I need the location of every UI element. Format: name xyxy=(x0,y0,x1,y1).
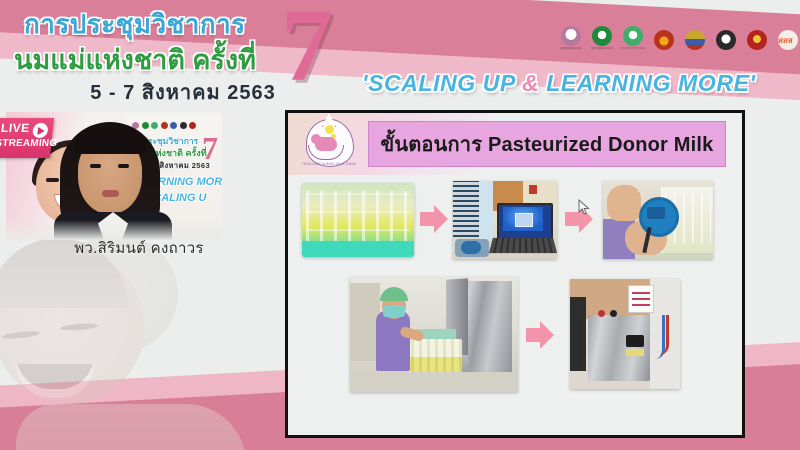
arrow-head xyxy=(540,321,554,349)
photo1-floor xyxy=(302,241,414,257)
logo-caption: มูลนิธิศูนย์นมแม่ xyxy=(560,47,581,50)
milk-level xyxy=(406,357,462,373)
wall-sign xyxy=(628,285,654,313)
sign-line-1 xyxy=(632,292,650,294)
surgical-cap xyxy=(380,287,408,301)
photo-nurse-loading-pasteurizer xyxy=(350,277,518,392)
conference-edition-number: 7 xyxy=(281,0,333,98)
streaming-label: STREAMING xyxy=(0,138,58,149)
royal-patronage-icon xyxy=(561,26,581,46)
window-blinds xyxy=(453,181,479,237)
screen-window xyxy=(515,213,533,227)
logo-caption: THAILAND HUMAN MILK BANK xyxy=(298,162,360,166)
logo-caption: มูลนิธิศูนย์นมแม่ xyxy=(591,47,612,50)
milk-droplet-large xyxy=(325,125,334,134)
nursing-council-logo xyxy=(715,24,737,50)
red-hose xyxy=(656,315,669,355)
slide-title: ขั้นตอนการ Pasteurized Donor Milk xyxy=(380,128,713,160)
pasteurizer-unit xyxy=(588,315,650,381)
human-milk-bank-logo: THAILAND HUMAN MILK BANK xyxy=(300,117,358,173)
poster-logo-4 xyxy=(161,122,168,129)
play-icon xyxy=(32,123,49,138)
photo4-floor xyxy=(350,372,518,392)
computer-mouse xyxy=(461,241,481,254)
health-ministry-icon xyxy=(623,26,643,46)
speaker-name: พว.สิริมนต์ คงถาวร xyxy=(24,236,254,260)
poster-logo-6 xyxy=(180,122,187,129)
royal-patronage-logo: มูลนิธิศูนย์นมแม่ xyxy=(560,24,582,50)
cloth xyxy=(479,181,493,239)
speaker-eye-right xyxy=(118,164,129,168)
nursing-council-icon xyxy=(716,30,736,50)
ministry-of-public-health-logo: กระทรวงสาธารณสุข xyxy=(622,24,644,50)
poster-logo-strip xyxy=(132,122,196,129)
thai-breastfeeding-foundation-logo: มูลนิธิศูนย์นมแม่ xyxy=(591,24,613,50)
red-emblem-icon xyxy=(747,30,767,50)
faded-child-photo xyxy=(0,236,286,436)
laptop-keyboard xyxy=(489,238,557,253)
organization-logos: มูลนิธิศูนย์นมแม่ มูลนิธิศูนย์นมแม่ กระท… xyxy=(560,24,799,50)
hand-upper xyxy=(607,185,641,221)
baby-head-icon xyxy=(311,134,321,144)
poster-logo-2 xyxy=(142,122,149,129)
theme-ampersand: & xyxy=(522,70,539,96)
photo-pasteurizer-machine xyxy=(570,279,680,389)
child-body xyxy=(16,404,246,450)
poster-logo-3 xyxy=(151,122,158,129)
nurse-scrubs xyxy=(376,311,410,371)
poster-logo-7 xyxy=(189,122,196,129)
slide-panel: THAILAND HUMAN MILK BANK ขั้นตอนการ Past… xyxy=(285,110,745,438)
theme-suffix: LEARNING MORE' xyxy=(539,70,755,96)
arrow-right-icon xyxy=(526,321,558,349)
slide-header: THAILAND HUMAN MILK BANK ขั้นตอนการ Past… xyxy=(288,113,742,175)
control-label xyxy=(626,349,644,356)
sign-line-3 xyxy=(632,304,650,306)
live-streaming-badge: LIVE STREAMING xyxy=(0,118,54,158)
pasteurizer-knob-red xyxy=(598,310,605,317)
poster-child-eye-left xyxy=(46,178,59,182)
royal-thai-government-logo xyxy=(653,24,675,50)
conference-theme: 'SCALING UP & LEARNING MORE' xyxy=(362,70,792,97)
arrow-head xyxy=(434,205,448,233)
logo-caption: กระทรวงสาธารณสุข xyxy=(621,47,645,50)
arrow-right-icon xyxy=(420,205,450,233)
presentation-screen: การประชุมวิชาการ นมแม่แห่งชาติ ครั้งที่ … xyxy=(0,0,800,450)
sss-text: สสส xyxy=(778,36,793,45)
foundation-icon xyxy=(592,26,612,46)
poster-logo-5 xyxy=(170,122,177,129)
pasteurizer-knob-black xyxy=(610,310,617,317)
theme-prefix: 'SCALING UP xyxy=(362,70,522,96)
photo-thermometer-check xyxy=(603,181,713,259)
temple-icon xyxy=(654,30,674,50)
thermometer-display xyxy=(647,207,665,219)
royal-emblem-logo xyxy=(684,24,706,50)
thaihealth-sss-logo: สสส xyxy=(777,24,799,50)
thaihealth-icon: สสส xyxy=(778,30,798,50)
photo-laptop-records xyxy=(453,181,557,259)
red-object xyxy=(529,185,537,194)
black-hose xyxy=(578,319,593,371)
conference-title-line2: นมแม่แห่งชาติ ครั้งที่ xyxy=(14,42,296,78)
sign-line-2 xyxy=(632,298,650,300)
royal-emblem-icon xyxy=(685,30,705,50)
conference-dates: 5 - 7 สิงหาคม 2563 xyxy=(78,76,288,108)
control-display xyxy=(626,335,644,347)
surgical-mask xyxy=(383,305,405,317)
slide-title-banner: ขั้นตอนการ Pasteurized Donor Milk xyxy=(368,121,726,167)
mouse-pointer xyxy=(578,199,590,216)
speaker-eye-left xyxy=(90,164,101,168)
speaker-fringe xyxy=(74,128,146,154)
photo-milk-bottles-rack xyxy=(302,183,414,257)
live-label: LIVE xyxy=(0,121,30,135)
red-emblem-logo xyxy=(746,24,768,50)
speaker-mouth xyxy=(102,190,119,197)
conference-title-line1: การประชุมวิชาการ xyxy=(24,6,286,42)
